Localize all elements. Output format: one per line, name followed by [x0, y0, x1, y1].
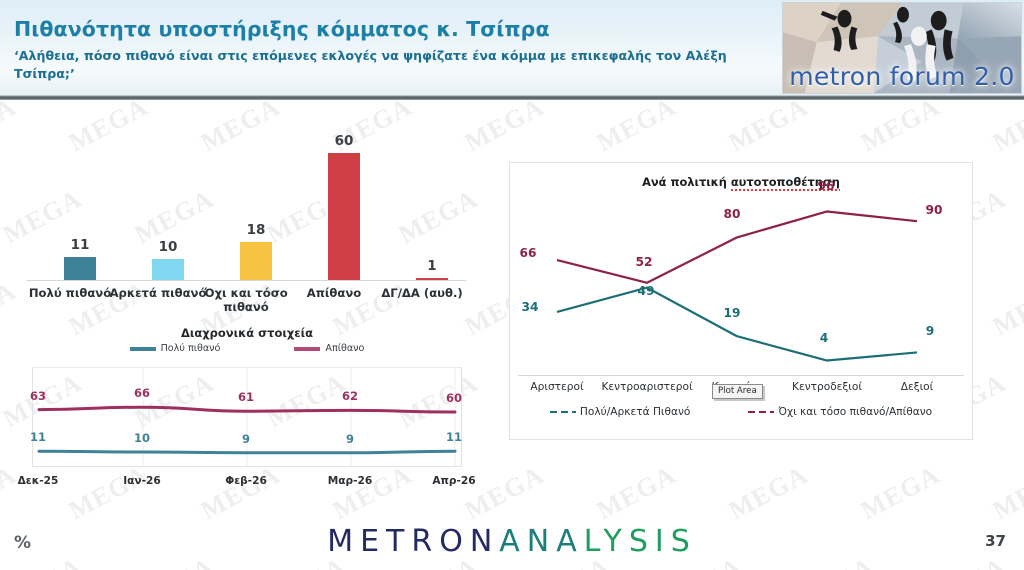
trend-category-label: Δεκ-25	[0, 475, 83, 487]
slide-body: 111018601 Πολύ πιθανόΑρκετά πιθανόΌχι κα…	[0, 100, 1024, 570]
trend-value-label: 11	[443, 430, 465, 444]
political-value-label: 80	[722, 207, 742, 221]
trend-value-label: 61	[235, 390, 257, 404]
trend-value-label: 66	[131, 386, 153, 400]
legend-swatch-icon	[294, 347, 320, 351]
political-value-label: 52	[634, 255, 654, 269]
logo-wordmark: metron forum 2.0	[783, 62, 1021, 91]
bar-rect	[152, 259, 184, 280]
trend-value-label: 11	[27, 430, 49, 444]
legend-item-poly-pithano: Πολύ πιθανό	[130, 343, 221, 354]
trend-value-label: 10	[131, 431, 153, 445]
trend-svg	[33, 368, 461, 466]
political-value-label: 49	[636, 284, 656, 298]
political-value-label: 34	[520, 300, 540, 314]
trend-value-label: 9	[235, 432, 257, 446]
metron-analysis-wordmark: METRONANALYSIS	[0, 524, 1024, 559]
bar-rect	[240, 242, 272, 280]
bar-column: 11	[36, 140, 124, 280]
metron-forum-logo: metron forum 2.0	[782, 2, 1022, 94]
legend-item-likely: Πολύ/Αρκετά Πιθανό	[550, 406, 691, 418]
political-value-label: 9	[920, 324, 940, 338]
trend-category-label: Ιαν-26	[97, 475, 187, 487]
legend-label: Απίθανο	[325, 343, 364, 354]
bar-plot-area: 111018601	[28, 140, 478, 280]
political-chart-legend: Πολύ/Αρκετά Πιθανό Όχι και τόσο πιθανό/Α…	[510, 406, 972, 418]
legend-label: Πολύ πιθανό	[161, 343, 221, 354]
brand-lysis: LYSIS	[584, 524, 697, 559]
bar-column: 10	[124, 140, 212, 280]
bar-axis-line	[26, 280, 466, 281]
trend-line-chart: Διαχρονικά στοιχεία Πολύ πιθανό Απίθανο …	[22, 325, 472, 500]
bar-category-label: ΔΓ/ΔΑ (αυθ.)	[370, 286, 474, 300]
trend-category-label: Μαρ-26	[305, 475, 395, 487]
bar-value-label: 11	[36, 237, 124, 253]
page-subtitle: ‘Αλήθεια, πόσο πιθανό είναι στις επόμενε…	[14, 47, 739, 85]
main-bar-chart: 111018601 Πολύ πιθανόΑρκετά πιθανόΌχι κα…	[18, 140, 488, 320]
political-series-line	[557, 211, 917, 282]
political-value-label: 4	[814, 331, 834, 345]
trend-category-label: Φεβ-26	[201, 475, 291, 487]
political-value-label: 90	[924, 203, 944, 217]
bar-column: 18	[212, 140, 300, 280]
header-text-block: Πιθανότητα υποστήριξης κόμματος κ. Τσίπρ…	[14, 18, 754, 84]
page-title: Πιθανότητα υποστήριξης κόμματος κ. Τσίπρ…	[14, 18, 754, 42]
bar-value-label: 10	[124, 239, 212, 255]
bar-rect	[64, 257, 96, 280]
trend-chart-legend: Πολύ πιθανό Απίθανο	[22, 343, 472, 354]
trend-series-line	[39, 451, 455, 453]
political-category-label: Δεξιοί	[857, 381, 977, 393]
political-axis-line	[518, 375, 964, 376]
bar-value-label: 60	[300, 133, 388, 149]
header-divider	[0, 96, 1024, 100]
plot-area-tooltip: Plot Area	[712, 384, 763, 399]
political-series-line	[557, 288, 917, 361]
legend-item-apithano: Απίθανο	[294, 343, 364, 354]
dashed-line-icon	[748, 411, 774, 413]
trend-value-label: 9	[339, 432, 361, 446]
bar-column: 60	[300, 140, 388, 280]
dashed-line-icon	[550, 411, 576, 413]
bar-value-label: 18	[212, 222, 300, 238]
trend-value-label: 63	[27, 389, 49, 403]
slide-footer: % METRONANALYSIS 37	[0, 520, 1024, 570]
legend-swatch-icon	[130, 347, 156, 351]
political-value-label: 96	[816, 179, 836, 193]
bar-rect	[328, 153, 360, 280]
political-value-label: 66	[518, 246, 538, 260]
trend-value-label: 60	[443, 391, 465, 405]
legend-item-unlikely: Όχι και τόσο πιθανό/Απίθανο	[748, 406, 932, 418]
page-number: 37	[985, 532, 1006, 550]
political-value-label: 19	[722, 306, 742, 320]
trend-value-label: 62	[339, 389, 361, 403]
trend-chart-title: Διαχρονικά στοιχεία	[22, 325, 472, 340]
slide-header: Πιθανότητα υποστήριξης κόμματος κ. Τσίπρ…	[0, 0, 1024, 96]
bar-value-label: 1	[388, 258, 476, 274]
trend-category-label: Απρ-26	[409, 475, 499, 487]
legend-label: Όχι και τόσο πιθανό/Απίθανο	[778, 406, 932, 418]
legend-label: Πολύ/Αρκετά Πιθανό	[580, 406, 691, 418]
bar-column: 1	[388, 140, 476, 280]
trend-plot-area	[32, 367, 462, 467]
brand-ana: ANA	[499, 524, 584, 559]
brand-metron: METRON	[327, 524, 499, 559]
